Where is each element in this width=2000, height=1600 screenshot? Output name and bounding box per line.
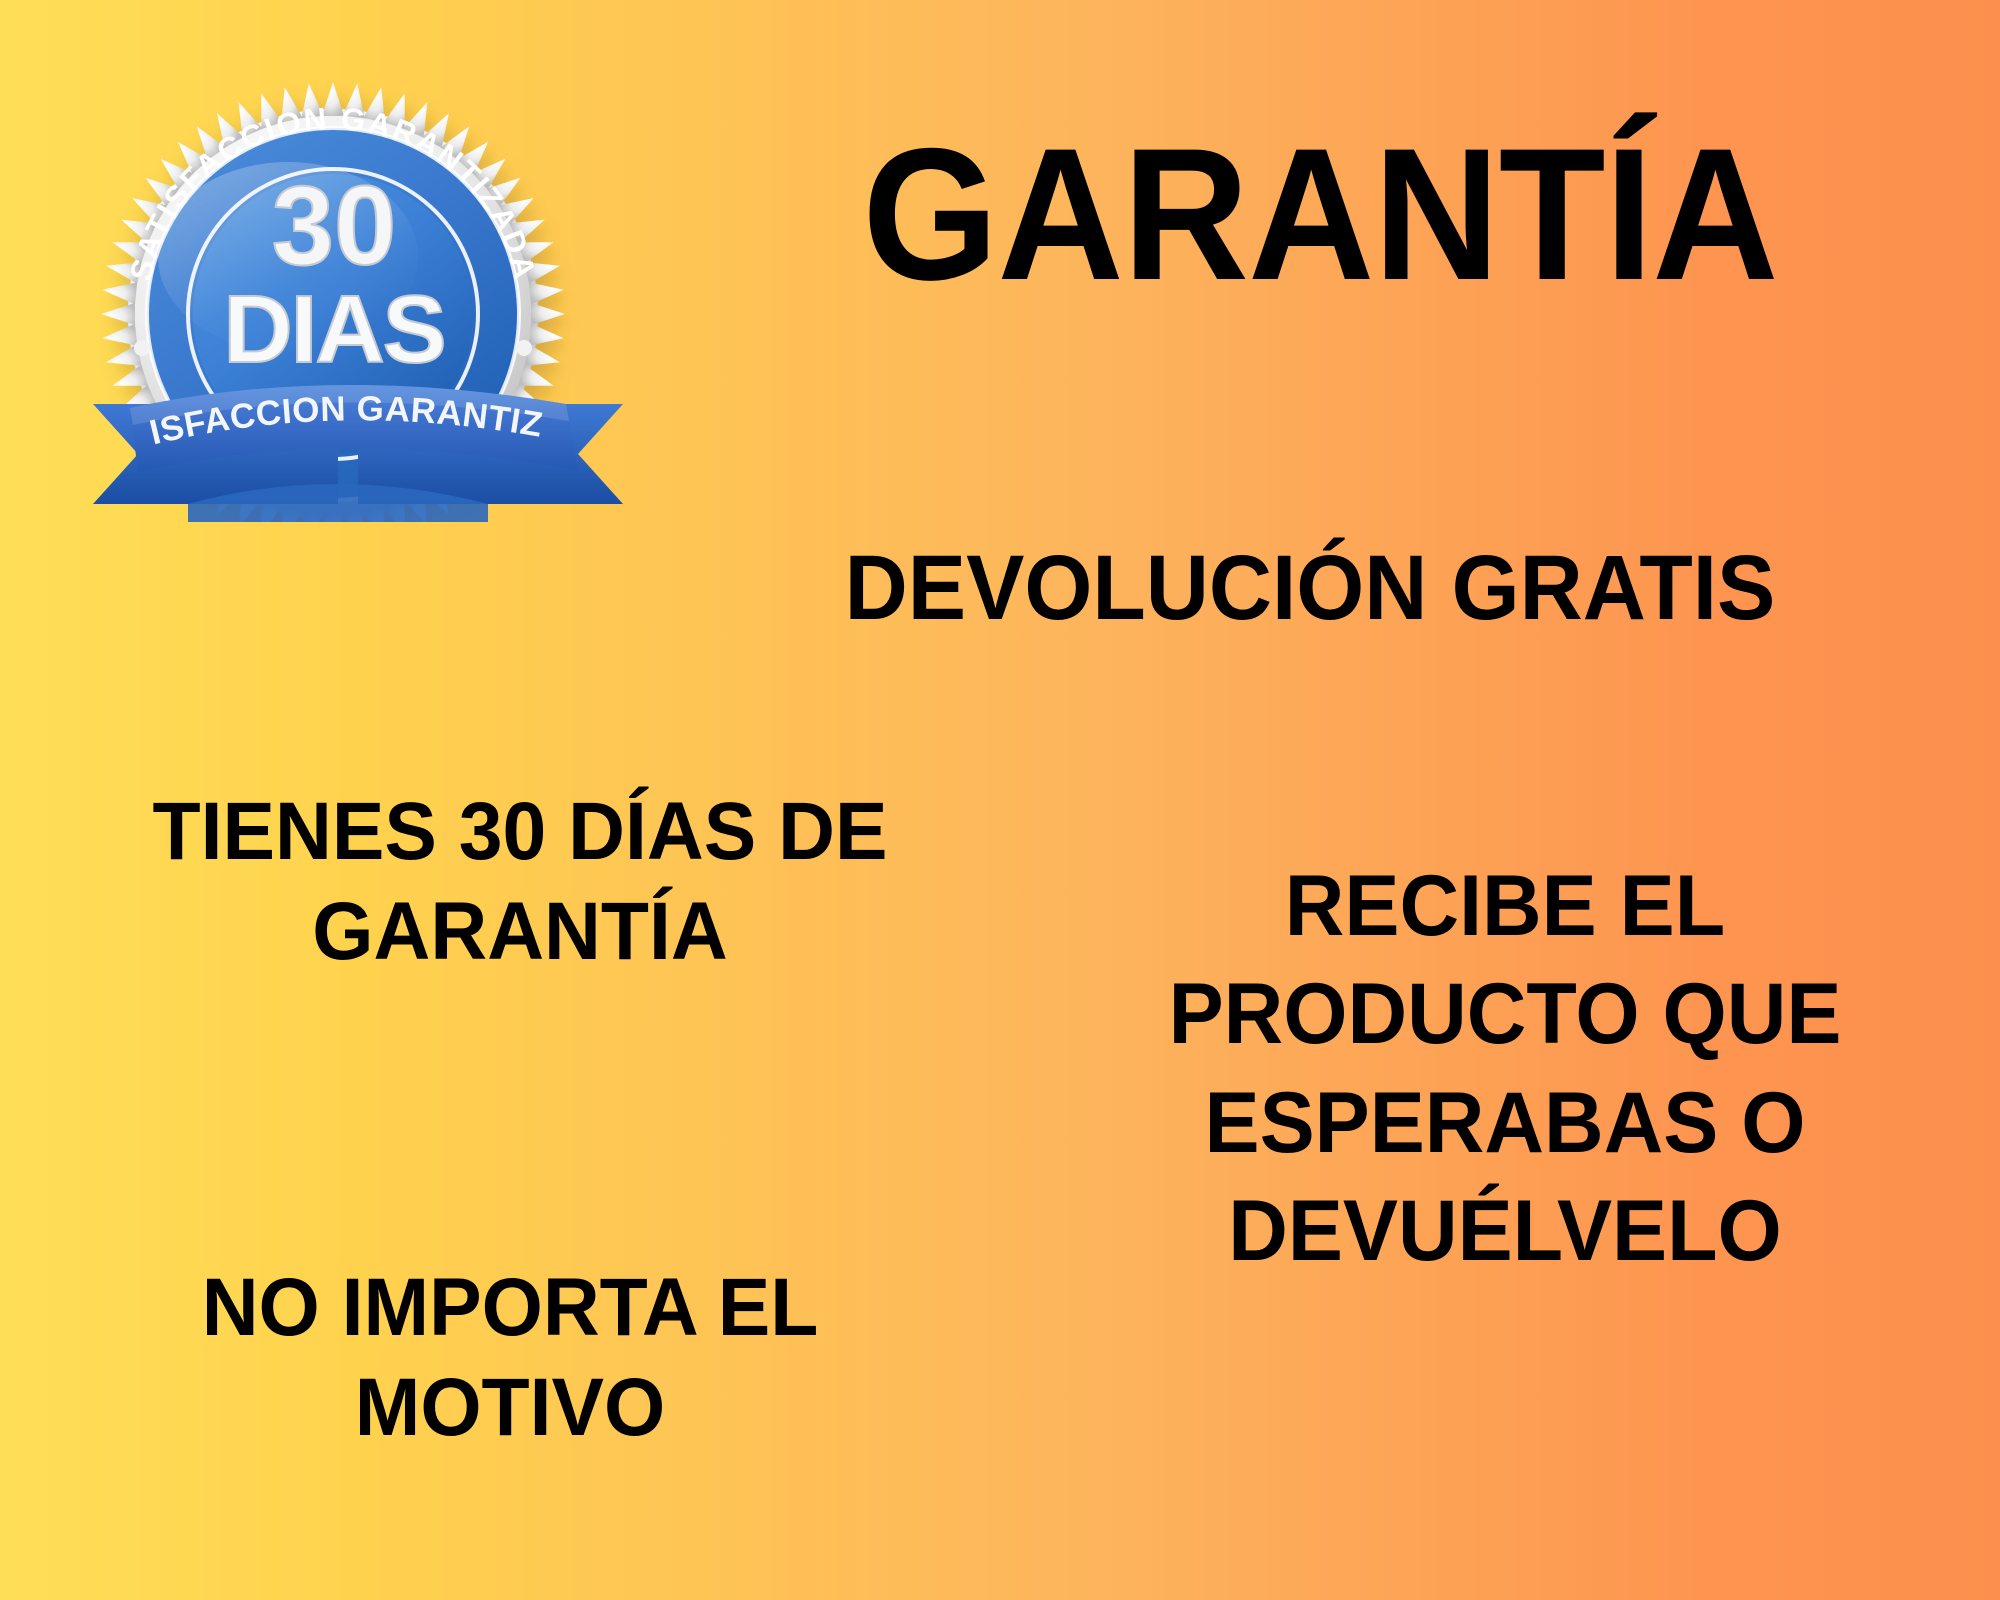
guarantee-poster: SATISFACCION GARANTIZADA 30 DIAS SATISFA… bbox=[0, 0, 2000, 1600]
page-title: GARANTÍA bbox=[706, 128, 1934, 301]
badge-dot-left bbox=[134, 340, 150, 356]
benefit-line: MOTIVO bbox=[59, 1358, 961, 1458]
benefit-line: NO IMPORTA EL bbox=[59, 1258, 961, 1358]
benefit-guarantee-period: TIENES 30 DÍAS DE GARANTÍA bbox=[59, 782, 981, 982]
badge-days-number: 30 bbox=[272, 163, 397, 288]
benefit-line: GARANTÍA bbox=[59, 882, 981, 982]
benefit-line: ESPERABAS O bbox=[1030, 1069, 1980, 1177]
benefit-line: DEVUÉLVELO bbox=[1030, 1177, 1980, 1285]
benefit-line: RECIBE EL bbox=[1030, 852, 1980, 960]
badge-days-unit: DIAS bbox=[223, 276, 444, 383]
badge-dot-right bbox=[516, 340, 532, 356]
guarantee-badge: SATISFACCION GARANTIZADA 30 DIAS SATISFA… bbox=[38, 52, 658, 522]
benefit-line: TIENES 30 DÍAS DE bbox=[59, 782, 981, 882]
benefit-product-promise: RECIBE EL PRODUCTO QUE ESPERABAS O DEVUÉ… bbox=[1030, 852, 1980, 1285]
benefit-no-reason-needed: NO IMPORTA EL MOTIVO bbox=[59, 1258, 961, 1458]
page-subtitle: DEVOLUCIÓN GRATIS bbox=[655, 542, 1966, 634]
benefit-line: PRODUCTO QUE bbox=[1030, 960, 1980, 1068]
